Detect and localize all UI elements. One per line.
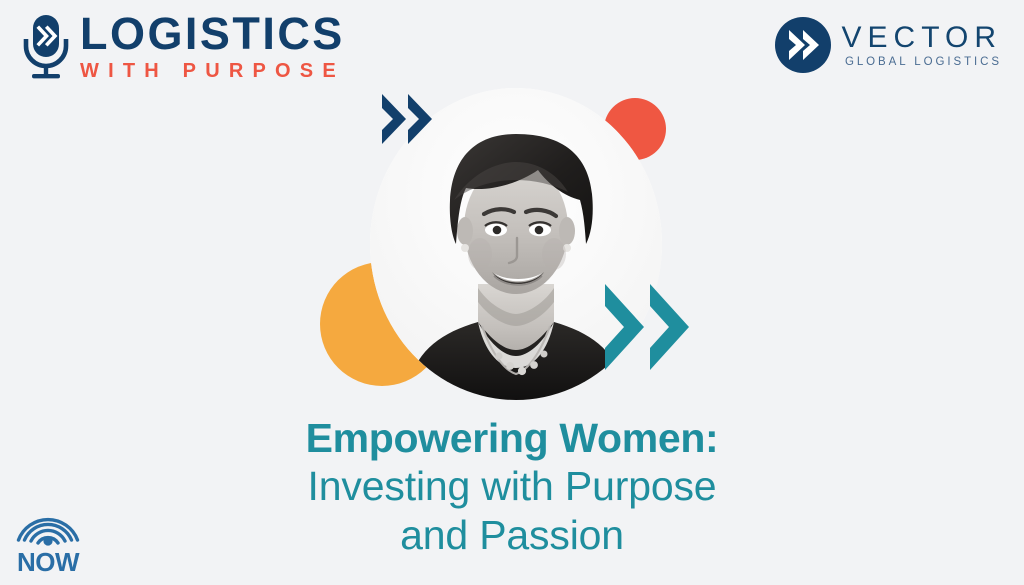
podcast-cover-canvas: LOGISTICS WITH PURPOSE VECTOR GLOBAL LOG… bbox=[0, 0, 1024, 585]
episode-title-line-1: Empowering Women: bbox=[0, 414, 1024, 462]
episode-title-line-2: Investing with Purpose bbox=[0, 462, 1024, 510]
chevron-teal-shape bbox=[600, 278, 698, 376]
hero-collage bbox=[0, 0, 1024, 410]
now-badge-label: NOW bbox=[17, 547, 80, 577]
broadcast-waves-icon: NOW bbox=[12, 507, 84, 577]
episode-title-line-3: and Passion bbox=[0, 511, 1024, 559]
chevron-navy-shape bbox=[378, 88, 440, 150]
episode-title: Empowering Women: Investing with Purpose… bbox=[0, 414, 1024, 559]
